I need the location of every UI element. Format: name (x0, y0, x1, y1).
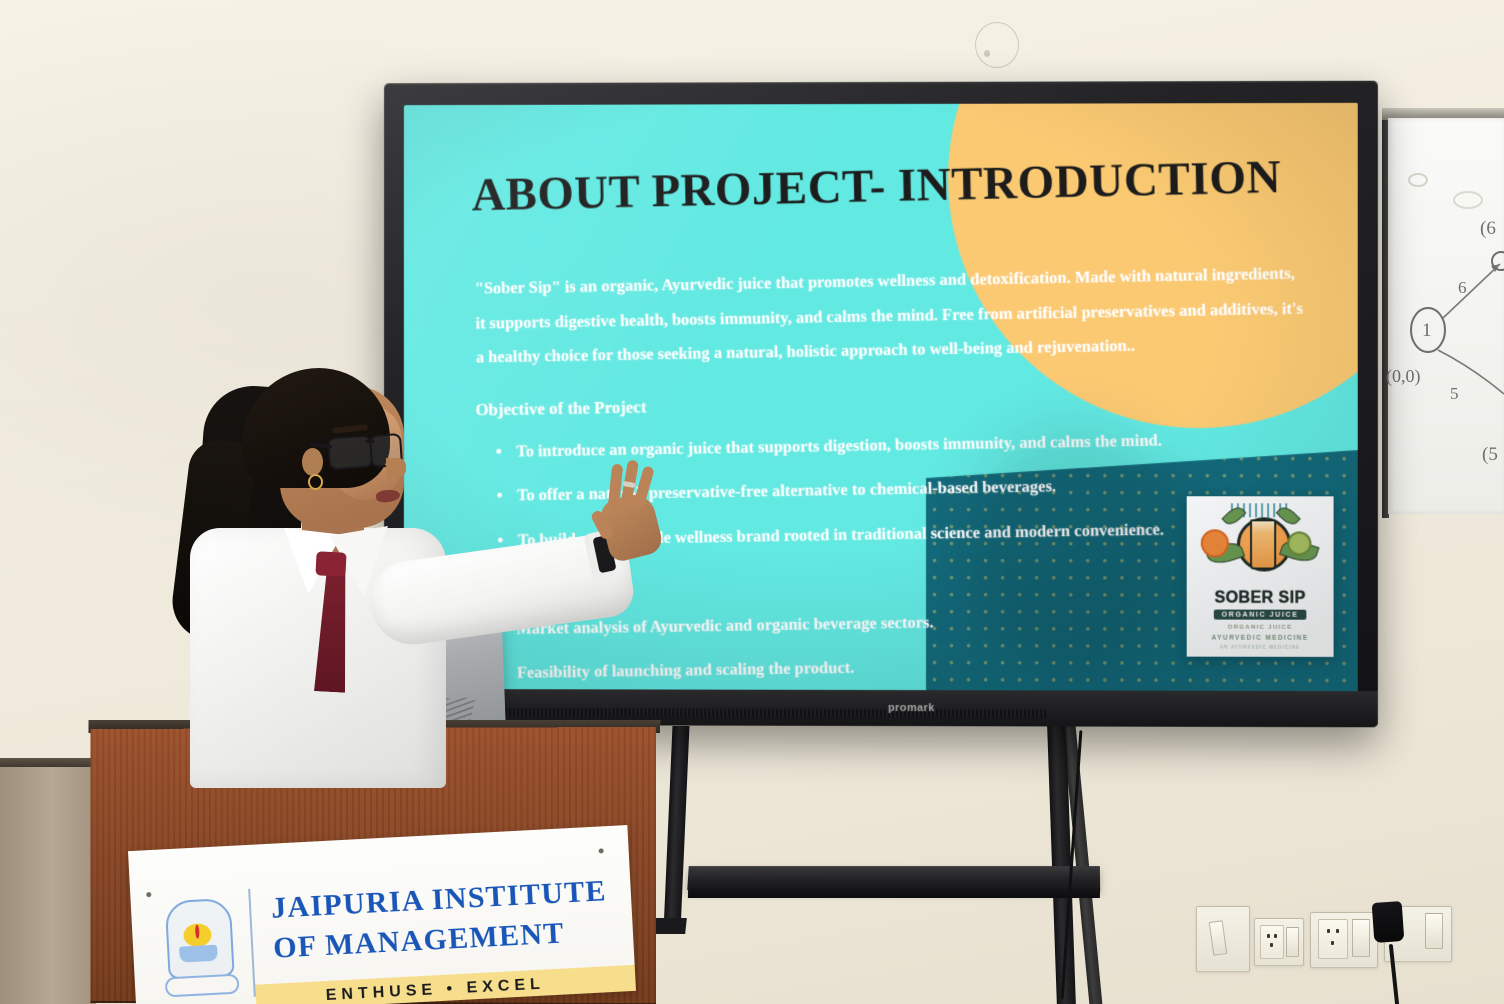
podium-side-panel (0, 762, 96, 1004)
logo-subline-2: ORGANIC JUICE (1228, 625, 1293, 631)
presenter-ear (302, 448, 323, 476)
sign-screw (599, 848, 604, 853)
wall-scuff-mark (975, 22, 1019, 68)
switch-lever-3[interactable] (1352, 919, 1370, 957)
presenter-tie-knot (315, 551, 346, 577)
institution-crest-icon (158, 892, 239, 1000)
wall-plate-3[interactable] (1310, 912, 1378, 968)
whiteboard-node-1: 1 (1422, 320, 1432, 342)
switch-lever-4[interactable] (1425, 913, 1443, 949)
product-logo-card: SOBER SIP ORGANIC JUICE ORGANIC JUICE AY… (1187, 496, 1334, 657)
whiteboard-label-5: (5 (1482, 444, 1498, 466)
whiteboard-coord-origin: (0,0) (1386, 366, 1421, 387)
podium-institution-sign: JAIPURIA INSTITUTE OF MANAGEMENT ENTHUSE… (128, 825, 636, 1004)
whiteboard-label-6: (6 (1480, 218, 1496, 240)
wall-plate-2[interactable] (1254, 918, 1304, 966)
logo-badge: ORGANIC JUICE (1214, 610, 1307, 620)
eyeglasses-bridge (366, 440, 374, 443)
tv-stand-shelf-edge (688, 888, 1100, 898)
classroom-scene: 1 6 (0,0) 5 (6 (5 (0, 0, 1504, 1004)
switch-lever-1[interactable] (1209, 920, 1228, 956)
crest-scroll (165, 974, 240, 998)
screen-shadow (962, 424, 1193, 675)
logo-subline-3: AYURVEDIC MEDICINE (1212, 635, 1309, 642)
slide-paragraph: "Sober Sip" is an organic, Ayurvedic jui… (475, 256, 1307, 375)
crest-base (179, 945, 218, 963)
whiteboard-diagram: 1 6 (0,0) 5 (6 (5 (1388, 118, 1504, 514)
sign-line-2: OF MANAGEMENT (272, 916, 565, 965)
product-logo-art (1201, 503, 1320, 587)
podium-side-top-edge (0, 758, 100, 767)
tv-stand-foot (653, 918, 687, 934)
display-brand-logo: promark (888, 702, 935, 714)
logo-olive-icon (1287, 531, 1311, 555)
presenter-earring (308, 474, 323, 490)
sign-screw (146, 892, 151, 897)
presenter-nose (386, 458, 406, 478)
wall-plate-1[interactable] (1196, 906, 1250, 972)
logo-subline-4: AN AYURVEDIC MEDICINE (1220, 645, 1300, 650)
logo-orange-slice-icon (1201, 529, 1229, 557)
whiteboard-edge-weight-5: 5 (1450, 384, 1459, 404)
tv-stand-shelf (687, 866, 1100, 890)
logo-juice-glass-icon (1250, 519, 1276, 569)
logo-brand-name: SOBER SIP (1214, 589, 1305, 607)
socket-outlet-2[interactable] (1260, 925, 1284, 959)
switch-lever-2[interactable] (1286, 927, 1299, 957)
sign-divider (248, 889, 255, 997)
socket-outlet-3[interactable] (1318, 919, 1348, 959)
presenter (180, 360, 700, 780)
power-plug[interactable] (1372, 901, 1405, 943)
whiteboard-edge-weight-6: 6 (1458, 278, 1467, 298)
